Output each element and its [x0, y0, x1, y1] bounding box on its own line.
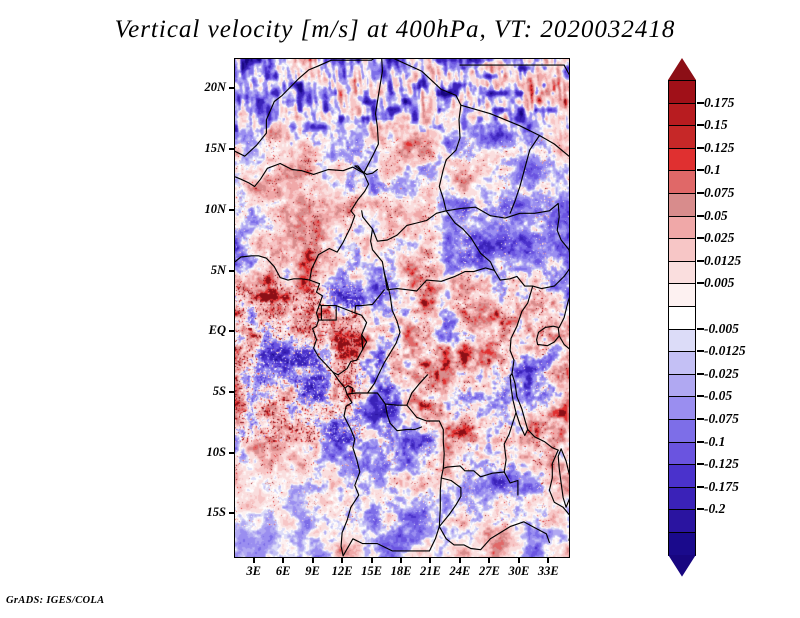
colorbar-tick-label: 0.175: [704, 96, 734, 110]
colorbar-tick-label: -0.2: [704, 502, 725, 516]
page-title: Vertical velocity [m/s] at 400hPa, VT: 2…: [0, 16, 790, 44]
colorbar-tick-mark: [697, 328, 704, 330]
x-axis-tick-label: 33E: [526, 564, 570, 579]
border-polyline: [471, 522, 550, 550]
border-polyline: [320, 290, 385, 313]
colorbar-tick-mark: [697, 486, 704, 488]
attribution-footer: GrADS: IGES/COLA: [6, 595, 104, 606]
colorbar-tick-label: 0.05: [704, 209, 728, 223]
y-axis-tick-mark: [229, 87, 234, 89]
x-axis-tick-mark: [518, 558, 520, 563]
colorbar-tick-mark: [697, 508, 704, 510]
border-polyline: [510, 136, 539, 214]
x-axis-tick-mark: [400, 558, 402, 563]
colorbar-tick-label: -0.005: [704, 322, 739, 336]
colorbar-band: [668, 419, 696, 443]
colorbar-band: [668, 487, 696, 511]
y-axis-tick-mark: [229, 148, 234, 150]
colorbar-top-arrow: [668, 58, 696, 80]
colorbar-band: [668, 80, 696, 104]
border-polyline: [235, 164, 364, 187]
x-axis-tick-mark: [459, 558, 461, 563]
colorbar-tick-mark: [697, 350, 704, 352]
colorbar-tick-label: -0.025: [704, 367, 739, 381]
border-polyline: [446, 211, 494, 270]
colorbar-tick-mark: [697, 441, 704, 443]
colorbar-tick-label: -0.075: [704, 412, 739, 426]
y-axis-tick-mark: [229, 330, 234, 332]
y-axis-tick-label: 5N: [186, 263, 226, 278]
border-polyline: [381, 59, 461, 211]
border-polyline: [333, 313, 366, 375]
colorbar-tick-mark: [697, 147, 704, 149]
colorbar-tick-label: -0.05: [704, 389, 732, 403]
colorbar-tick-label: 0.0125: [704, 254, 741, 268]
border-polyline: [310, 173, 369, 280]
colorbar-tick-mark: [697, 102, 704, 104]
border-polyline: [430, 466, 505, 551]
y-axis-tick-label: 10N: [186, 202, 226, 217]
border-polyline: [510, 374, 528, 436]
y-axis-tick-label: 15N: [186, 141, 226, 156]
colorbar-bottom-arrow: [668, 555, 696, 577]
border-polyline: [510, 351, 514, 374]
map-plot-area[interactable]: [234, 58, 570, 558]
border-polyline: [564, 65, 569, 150]
colorbar-tick-mark: [697, 395, 704, 397]
colorbar-tick-mark: [697, 215, 704, 217]
y-axis-tick-mark: [229, 452, 234, 454]
border-polyline: [331, 59, 382, 173]
border-polyline: [235, 256, 320, 284]
colorbar-tick-mark: [697, 463, 704, 465]
colorbar-tick-mark: [697, 237, 704, 239]
colorbar-band: [668, 351, 696, 375]
colorbar-band: [668, 509, 696, 533]
border-polyline: [446, 204, 569, 289]
y-axis-tick-label: 10S: [186, 445, 226, 460]
colorbar-band: [668, 306, 696, 330]
colorbar-tick-label: 0.15: [704, 118, 728, 132]
x-axis-tick-mark: [429, 558, 431, 563]
x-axis-tick-mark: [371, 558, 373, 563]
y-axis-tick-mark: [229, 209, 234, 211]
colorbar-band: [668, 193, 696, 217]
colorbar-tick-label: 0.025: [704, 231, 734, 245]
colorbar-tick-mark: [697, 282, 704, 284]
grads-plot-window: Vertical velocity [m/s] at 400hPa, VT: 2…: [0, 0, 800, 618]
border-polyline: [537, 326, 560, 346]
colorbar-band: [668, 329, 696, 353]
colorbar-band: [668, 125, 696, 149]
colorbar-tick-mark: [697, 169, 704, 171]
country-borders-overlay: [235, 59, 569, 557]
colorbar-tick-label: -0.0125: [704, 344, 746, 358]
colorbar-tick-label: 0.1: [704, 163, 721, 177]
colorbar-band: [668, 216, 696, 240]
colorbar-tick-mark: [697, 192, 704, 194]
colorbar-band: [668, 238, 696, 262]
colorbar-tick-label: 0.005: [704, 276, 734, 290]
border-polyline: [407, 375, 428, 405]
colorbar-band: [668, 261, 696, 285]
border-polyline: [439, 527, 471, 549]
border-polyline: [558, 449, 569, 507]
colorbar-band: [668, 170, 696, 194]
colorbar-band: [668, 103, 696, 127]
y-axis-tick-label: 15S: [186, 505, 226, 520]
border-polyline: [371, 229, 495, 291]
border-polyline: [528, 430, 559, 451]
colorbar-tick-mark: [697, 124, 704, 126]
border-polyline: [504, 413, 518, 496]
colorbar-tick-label: 0.075: [704, 186, 734, 200]
x-axis-tick-mark: [547, 558, 549, 563]
colorbar-band: [668, 148, 696, 172]
colorbar-band: [668, 442, 696, 466]
x-axis-tick-mark: [282, 558, 284, 563]
colorbar-tick-label: -0.175: [704, 480, 739, 494]
x-axis-tick-mark: [312, 558, 314, 563]
x-axis-tick-mark: [488, 558, 490, 563]
colorbar-tick-label: 0.125: [704, 141, 734, 155]
colorbar-band: [668, 374, 696, 398]
colorbar-tick-mark: [697, 260, 704, 262]
border-polyline: [313, 284, 360, 556]
colorbar-tick-label: -0.125: [704, 457, 739, 471]
colorbar-tick-label: -0.1: [704, 435, 725, 449]
border-polyline: [347, 393, 444, 468]
y-axis-tick-mark: [229, 270, 234, 272]
border-polyline: [362, 211, 447, 241]
border-polyline: [494, 270, 532, 350]
border-polyline: [235, 60, 331, 156]
colorbar-tick-mark: [697, 418, 704, 420]
y-axis-tick-mark: [229, 391, 234, 393]
border-polyline: [461, 105, 569, 162]
colorbar-band: [668, 464, 696, 488]
colorbar-band: [668, 283, 696, 307]
border-polyline: [559, 336, 569, 390]
y-axis-tick-label: 20N: [186, 80, 226, 95]
x-axis-tick-mark: [341, 558, 343, 563]
y-axis-tick-mark: [229, 512, 234, 514]
border-polyline: [343, 539, 429, 556]
colorbar-band: [668, 532, 696, 556]
y-axis-tick-label: 5S: [186, 384, 226, 399]
y-axis-tick-label: EQ: [186, 323, 226, 338]
colorbar-tick-mark: [697, 373, 704, 375]
x-axis-tick-mark: [253, 558, 255, 563]
border-polyline: [439, 478, 461, 527]
colorbar-band: [668, 396, 696, 420]
border-polyline: [559, 276, 569, 327]
colorbar[interactable]: 0.1750.150.1250.10.0750.050.0250.01250.0…: [668, 58, 800, 563]
